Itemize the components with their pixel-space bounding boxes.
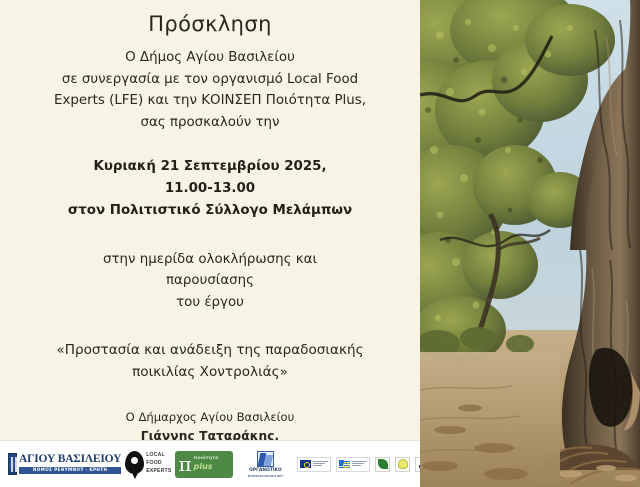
municipality-name: ΑΓΙΟΥ ΒΑΣΙΛΕΙΟΥ xyxy=(19,454,121,466)
lfe-line-1: LOCAL xyxy=(146,452,171,460)
invitation-poster: Πρόσκληση Ο Δήμος Αγίου Βασιλείου σε συν… xyxy=(0,0,640,487)
event-venue: στον Πολιτιστικό Σύλλογο Μελάμπων xyxy=(16,200,404,222)
signatory-role: Ο Δήμαρχος Αγίου Βασιλείου xyxy=(16,409,404,427)
municipality-subtitle: ΝΟΜΟΣ ΡΕΘΥΜΝΟΥ - ΚΡΗΤΗ xyxy=(19,467,121,474)
organizational-authority-logo: ΟΡΓΑΝΩΤΙΚΟ ΚΤΗΜΑΤΟΛΟΓΙΚΗ ΔΕΥ xyxy=(237,451,293,478)
organizational-line-2: ΚΤΗΜΑΤΟΛΟΓΙΚΗ ΔΕΥ xyxy=(248,474,283,478)
event-desc-line-2: παρουσίασης xyxy=(16,270,404,292)
eu-banner-lines xyxy=(313,461,328,468)
trophy-icon xyxy=(398,459,408,469)
local-food-experts-logo: LOCAL FOOD EXPERTS xyxy=(125,451,171,478)
eu-flag-icon xyxy=(300,460,311,468)
greek-flag-icon xyxy=(339,460,350,468)
event-desc-line-1: στην ημερίδα ολοκλήρωσης και xyxy=(16,249,404,271)
organizational-emblem-icon xyxy=(257,451,274,467)
quality-award-icon xyxy=(395,457,410,472)
pi-symbol-icon: π xyxy=(178,454,191,474)
lfe-line-3: EXPERTS xyxy=(146,468,171,476)
project-title-line-1: «Προστασία και ανάδειξη της παραδοσιακής xyxy=(16,339,404,361)
hellenic-banner-lines xyxy=(352,461,367,468)
event-date: Κυριακή 21 Σεπτεμβρίου 2025, xyxy=(16,156,404,178)
intro-line-4: σας προσκαλούν την xyxy=(16,112,404,134)
sponsor-logo-strip: ΑΓΙΟΥ ΒΑΣΙΛΕΙΟΥ ΝΟΜΟΣ ΡΕΘΥΜΝΟΥ - ΚΡΗΤΗ L… xyxy=(0,440,420,487)
event-datetime-block: Κυριακή 21 Σεπτεμβρίου 2025, 11.00-13.00… xyxy=(16,156,404,223)
plus-label: plus xyxy=(194,462,219,472)
intro-line-1: Ο Δήμος Αγίου Βασιλείου xyxy=(16,47,404,69)
local-food-experts-text: LOCAL FOOD EXPERTS xyxy=(146,452,171,476)
intro-line-2: σε συνεργασία με τον οργανισμό Local Foo… xyxy=(16,69,404,91)
municipality-logo-text: ΑΓΙΟΥ ΒΑΣΙΛΕΙΟΥ ΝΟΜΟΣ ΡΕΘΥΜΝΟΥ - ΚΡΗΤΗ xyxy=(19,454,121,474)
leaf-icon xyxy=(378,459,388,469)
hellenic-republic-banner xyxy=(336,457,370,472)
rural-development-icon xyxy=(375,457,390,472)
map-pin-icon xyxy=(125,451,144,478)
olive-tree-photo xyxy=(420,0,640,487)
poiotita-plus-text: ποιότητα plus xyxy=(194,456,219,472)
municipality-logo: ΑΓΙΟΥ ΒΑΣΙΛΕΙΟΥ ΝΟΜΟΣ ΡΕΘΥΜΝΟΥ - ΚΡΗΤΗ xyxy=(3,451,121,478)
event-time: 11.00-13.00 xyxy=(16,178,404,200)
project-title-line-2: ποικιλίας Χοντρολιάς» xyxy=(16,361,404,383)
olive-tree-illustration xyxy=(420,0,640,487)
municipality-emblem-icon xyxy=(8,453,17,475)
european-union-banner xyxy=(297,457,331,472)
lfe-line-2: FOOD xyxy=(146,460,171,468)
event-desc-line-3: του έργου xyxy=(16,292,404,314)
project-title-block: «Προστασία και ανάδειξη της παραδοσιακής… xyxy=(16,339,404,383)
poster-text-panel: Πρόσκληση Ο Δήμος Αγίου Βασιλείου σε συν… xyxy=(0,0,420,440)
poiotita-plus-logo: π ποιότητα plus xyxy=(175,451,233,478)
event-description-block: στην ημερίδα ολοκλήρωσης και παρουσίασης… xyxy=(16,249,404,314)
organizational-line-1: ΟΡΓΑΝΩΤΙΚΟ xyxy=(249,468,282,473)
page-title: Πρόσκληση xyxy=(16,12,404,36)
intro-line-3: Experts (LFE) και την ΚΟΙΝΣΕΠ Ποιότητα P… xyxy=(16,90,404,112)
intro-paragraph: Ο Δήμος Αγίου Βασιλείου σε συνεργασία με… xyxy=(16,47,404,134)
poiotita-label: ποιότητα xyxy=(194,456,219,462)
